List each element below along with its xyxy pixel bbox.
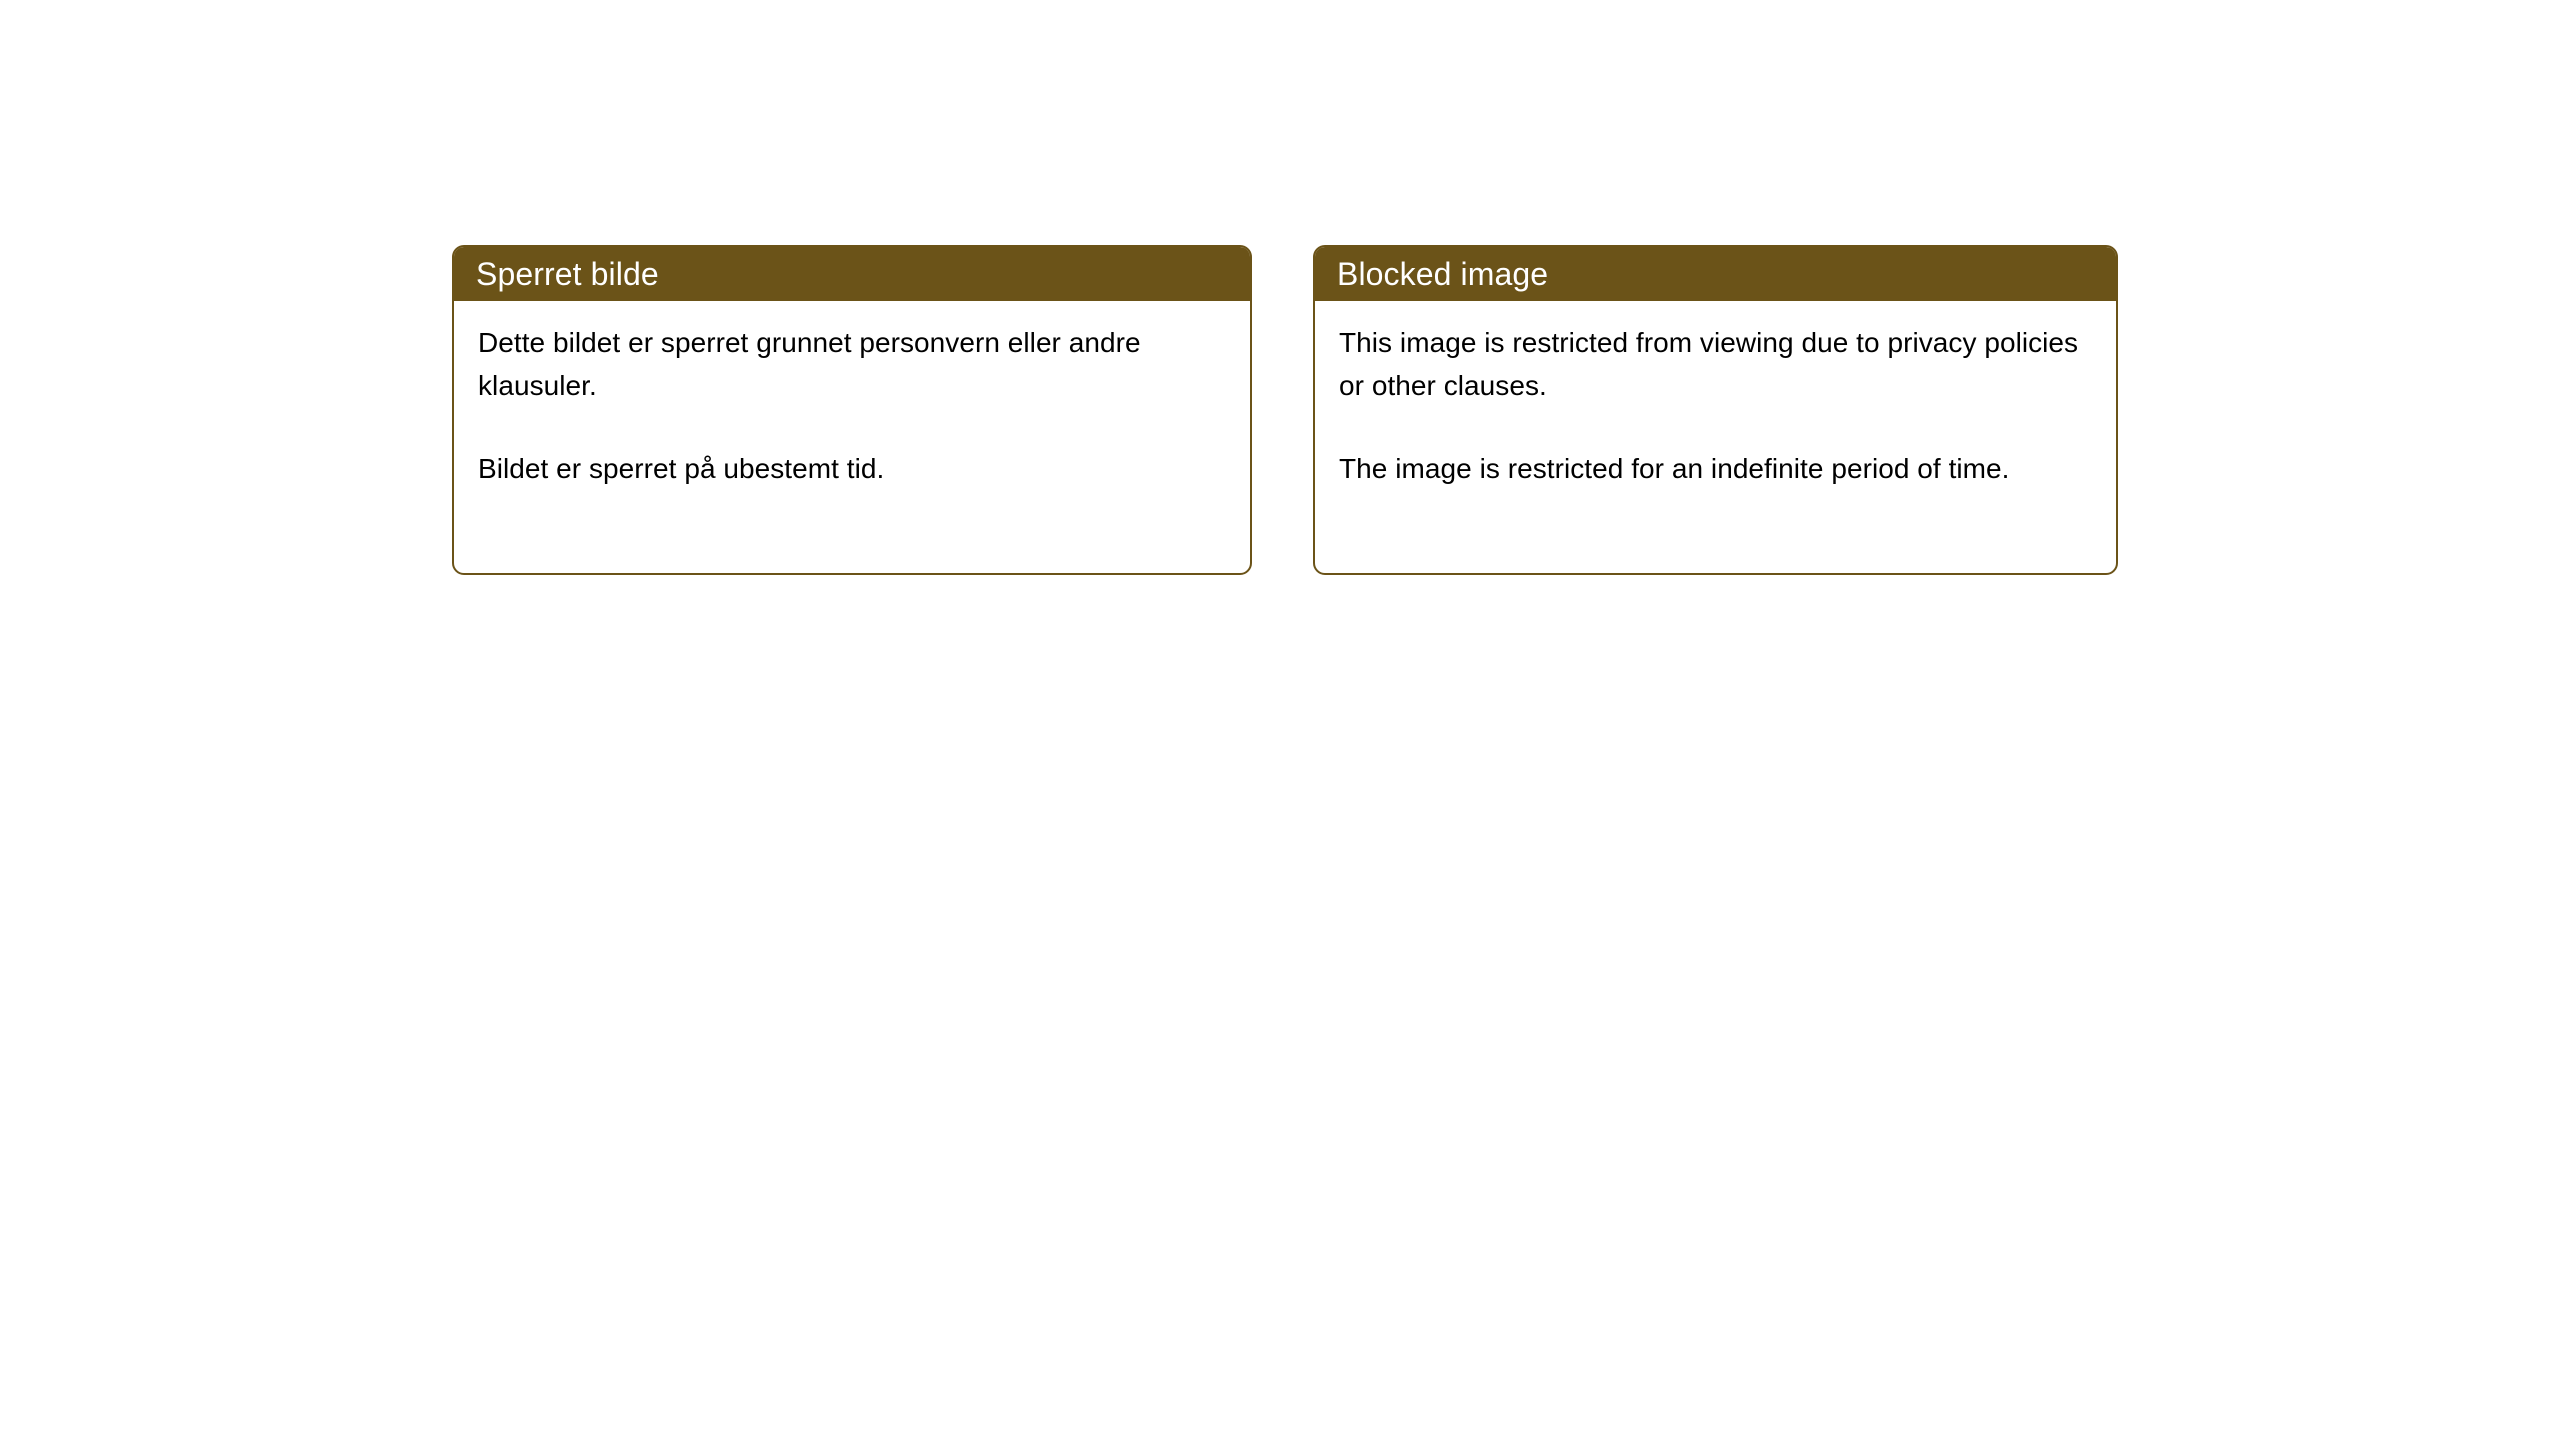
page-root: Sperret bilde Dette bildet er sperret gr…: [0, 0, 2560, 1440]
notice-header-english: Blocked image: [1315, 247, 2116, 301]
notice-body-norwegian: Dette bildet er sperret grunnet personve…: [454, 301, 1250, 490]
notice-paragraph-primary-english: This image is restricted from viewing du…: [1339, 321, 2096, 407]
blocked-image-notice-english: Blocked image This image is restricted f…: [1313, 245, 2118, 575]
notice-title-english: Blocked image: [1337, 257, 1548, 291]
notice-paragraph-secondary-norwegian: Bildet er sperret på ubestemt tid.: [478, 447, 1220, 490]
notice-paragraph-primary-norwegian: Dette bildet er sperret grunnet personve…: [478, 321, 1220, 407]
notice-paragraph-secondary-english: The image is restricted for an indefinit…: [1339, 447, 2096, 490]
notice-body-english: This image is restricted from viewing du…: [1315, 301, 2116, 490]
notice-header-norwegian: Sperret bilde: [454, 247, 1250, 301]
blocked-image-notice-norwegian: Sperret bilde Dette bildet er sperret gr…: [452, 245, 1252, 575]
notice-title-norwegian: Sperret bilde: [476, 257, 659, 291]
